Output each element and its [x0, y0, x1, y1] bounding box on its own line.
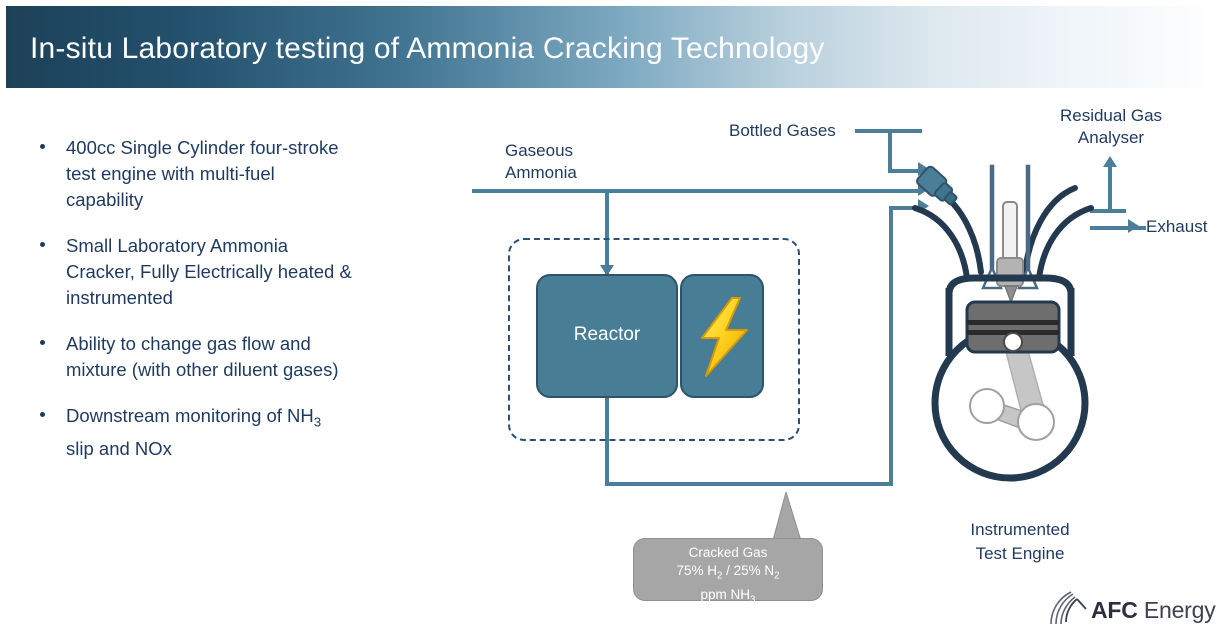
list-item: 400cc Single Cylinder four-stroke test e… [34, 135, 434, 213]
bullet-line-1: Ability to change gas flow and [66, 333, 311, 354]
logo-afc: AFC [1091, 597, 1138, 623]
lightning-bolt-icon [692, 296, 754, 378]
page-title: In-situ Laboratory testing of Ammonia Cr… [30, 32, 825, 66]
nh3-subscript: 3 [750, 594, 755, 605]
bullet-line-2: test engine with multi-fuel [66, 163, 275, 184]
bullet-line-1: Small Laboratory Ammonia [66, 235, 288, 256]
cracked-gas-h2: 75% H [676, 563, 717, 578]
bullet-dot-icon [40, 144, 45, 149]
cracked-gas-return-line [605, 482, 893, 486]
logo-energy: Energy [1138, 597, 1216, 623]
list-item: Small Laboratory Ammonia Cracker, Fully … [34, 233, 434, 311]
exhaust-label: Exhaust [1146, 216, 1207, 238]
cracked-gas-composition: Cracked Gas 75% H2 / 25% N2 ppm NH3 [633, 544, 823, 609]
reactor-label: Reactor [536, 324, 678, 346]
cracked-gas-line-1: Cracked Gas [689, 545, 768, 560]
afc-energy-logo-text: AFC Energy [1091, 597, 1216, 624]
bullet-dot-icon [40, 340, 45, 345]
bullet-dot-icon [40, 242, 45, 247]
bullet-line-2: mixture (with other diluent gases) [66, 359, 338, 380]
cracked-gas-riser-line [889, 208, 893, 486]
bullet-line-3: capability [66, 189, 143, 210]
gaseous-ammonia-label: Gaseous Ammonia [505, 140, 577, 184]
bullet-line-3: instrumented [66, 287, 173, 308]
afc-energy-logo: AFC Energy [1045, 588, 1220, 632]
afc-energy-logo-icon [1045, 590, 1089, 630]
bullet-subscript: 3 [314, 415, 321, 430]
list-item: Downstream monitoring of NH3 slip and NO… [34, 403, 434, 462]
bullet-line-1: 400cc Single Cylinder four-stroke [66, 137, 339, 158]
cracked-gas-nh3: ppm NH [701, 587, 751, 602]
cracked-gas-n2: / 25% N [722, 563, 774, 578]
bullet-line-2: Cracker, Fully Electrically heated & [66, 261, 352, 282]
residual-gas-analyser-label: Residual Gas Analyser [1035, 105, 1187, 149]
exhaust-arrowhead-icon [1128, 219, 1139, 233]
bottled-gases-line-vertical [888, 129, 892, 173]
list-item: Ability to change gas flow and mixture (… [34, 331, 434, 383]
bullet-dot-icon [40, 412, 45, 417]
bullet-list: 400cc Single Cylinder four-stroke test e… [34, 135, 434, 482]
bottled-gases-label: Bottled Gases [729, 120, 836, 142]
n2-subscript: 2 [774, 571, 779, 582]
callout-pointer-icon [750, 492, 810, 544]
ammonia-feed-line [472, 189, 922, 193]
slide-canvas: In-situ Laboratory testing of Ammonia Cr… [0, 0, 1227, 637]
bullet-line-1: Downstream monitoring of NH [66, 405, 314, 426]
engine-caption: Instrumented Test Engine [930, 518, 1110, 566]
bullet-line-2: slip and NOx [66, 438, 172, 459]
test-engine-illustration [905, 160, 1115, 505]
